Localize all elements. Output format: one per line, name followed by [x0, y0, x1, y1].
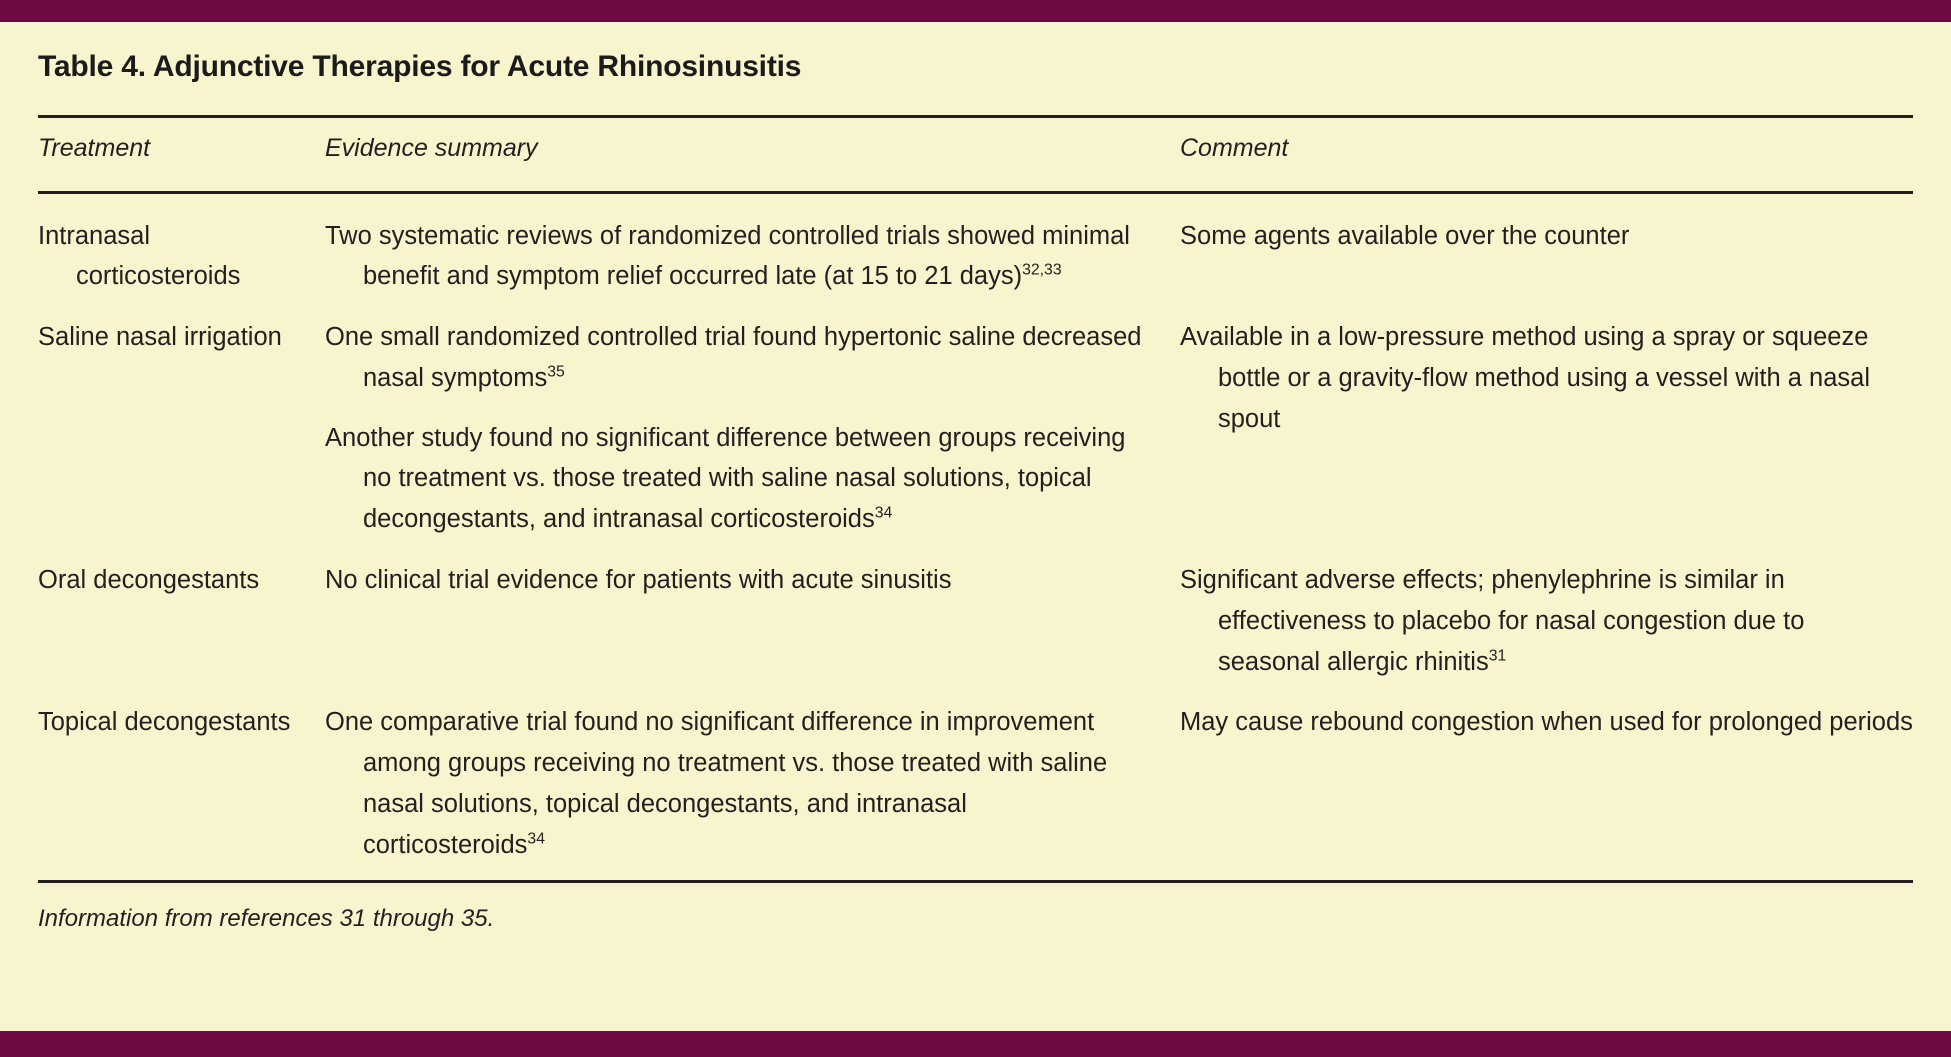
adjunctive-therapies-body: Intranasal corticosteroidsTwo systematic…: [38, 194, 1913, 866]
page-title: Table 4. Adjunctive Therapies for Acute …: [38, 22, 1913, 86]
table-row: Oral decongestantsNo clinical trial evid…: [38, 540, 1913, 682]
cell-paragraph: May cause rebound congestion when used f…: [1180, 702, 1913, 743]
table-inner: Table 4. Adjunctive Therapies for Acute …: [0, 22, 1951, 1031]
reference-superscript: 34: [875, 505, 893, 522]
cell-evidence-summary: No clinical trial evidence for patients …: [325, 540, 1180, 682]
cell-paragraph: No clinical trial evidence for patients …: [325, 560, 1152, 601]
cell-paragraph: Significant adverse effects; phenylephri…: [1180, 560, 1913, 682]
column-header-evidence-summary: Evidence summary: [325, 118, 1180, 179]
table-card: Table 4. Adjunctive Therapies for Acute …: [0, 0, 1951, 1057]
table-head: Treatment Evidence summary Comment: [38, 118, 1913, 179]
cell-treatment: Oral decongestants: [38, 540, 325, 682]
table-row: Intranasal corticosteroidsTwo systematic…: [38, 194, 1913, 298]
cell-paragraph: One comparative trial found no significa…: [325, 702, 1152, 865]
column-header-treatment: Treatment: [38, 118, 325, 179]
header-row: Treatment Evidence summary Comment: [38, 118, 1913, 179]
reference-superscript: 32,33: [1022, 262, 1062, 279]
reference-superscript: 35: [547, 363, 565, 380]
column-header-comment: Comment: [1180, 118, 1913, 179]
cell-comment: May cause rebound congestion when used f…: [1180, 682, 1913, 865]
cell-treatment: Intranasal corticosteroids: [38, 194, 325, 298]
cell-treatment: Saline nasal irrigation: [38, 297, 325, 540]
treatment-label: Intranasal corticosteroids: [38, 216, 311, 298]
cell-paragraph: Another study found no significant diffe…: [325, 418, 1152, 540]
cell-treatment: Topical decongestants: [38, 682, 325, 865]
cell-comment: Available in a low-pressure method using…: [1180, 297, 1913, 540]
cell-paragraph: Some agents available over the counter: [1180, 216, 1913, 257]
cell-evidence-summary: One comparative trial found no significa…: [325, 682, 1180, 865]
cell-paragraph: One small randomized controlled trial fo…: [325, 317, 1152, 399]
treatment-label: Oral decongestants: [38, 560, 311, 601]
table-bottom-rule: [38, 880, 1913, 883]
treatment-label: Saline nasal irrigation: [38, 317, 311, 358]
table-row: Saline nasal irrigationOne small randomi…: [38, 297, 1913, 540]
table-footnote: Information from references 31 through 3…: [38, 905, 1913, 933]
cell-evidence-summary: One small randomized controlled trial fo…: [325, 297, 1180, 540]
cell-comment: Significant adverse effects; phenylephri…: [1180, 540, 1913, 682]
adjunctive-therapies-table: Treatment Evidence summary Comment: [38, 118, 1913, 179]
treatment-label: Topical decongestants: [38, 702, 311, 743]
cell-paragraph: Two systematic reviews of randomized con…: [325, 216, 1152, 298]
reference-superscript: 34: [527, 830, 545, 847]
cell-paragraph: Available in a low-pressure method using…: [1180, 317, 1913, 439]
reference-superscript: 31: [1489, 647, 1507, 664]
cell-comment: Some agents available over the counter: [1180, 194, 1913, 298]
table-body: Intranasal corticosteroidsTwo systematic…: [38, 194, 1913, 866]
table-row: Topical decongestantsOne comparative tri…: [38, 682, 1913, 865]
cell-evidence-summary: Two systematic reviews of randomized con…: [325, 194, 1180, 298]
